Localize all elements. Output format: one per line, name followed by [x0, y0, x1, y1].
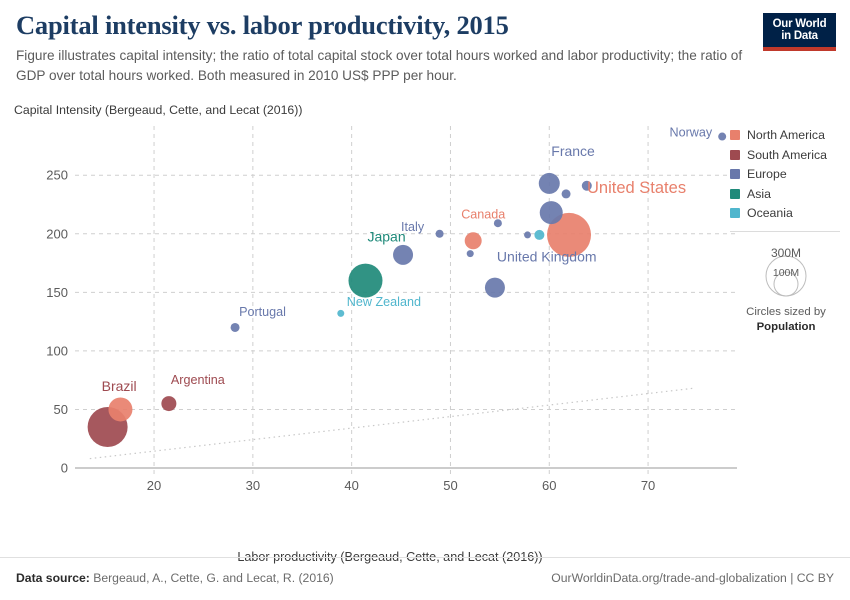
- data-point-italy[interactable]: [393, 245, 413, 265]
- data-point-germany[interactable]: [540, 201, 563, 224]
- point-label-argentina: Argentina: [171, 373, 225, 387]
- logo-line-1: Our World: [773, 18, 827, 30]
- y-tick-label: 0: [61, 461, 68, 476]
- size-label-300m: 300M: [771, 246, 801, 260]
- point-label-france: France: [551, 143, 595, 159]
- chart-footer: Data source: Bergeaud, A., Cette, G. and…: [0, 557, 850, 600]
- x-tick-label: 30: [246, 478, 260, 493]
- page-title: Capital intensity vs. labor productivity…: [16, 10, 756, 40]
- size-legend: 300M 100M Circles sized by Population: [730, 240, 842, 298]
- reference-line: [90, 388, 693, 458]
- x-tick-label: 60: [542, 478, 556, 493]
- legend-item-label: Asia: [747, 187, 771, 201]
- y-tick-label: 50: [54, 402, 68, 417]
- point-label-united-kingdom: United Kingdom: [497, 249, 597, 265]
- legend-item-asia[interactable]: Asia: [730, 187, 842, 201]
- legend-item-label: South America: [747, 148, 827, 162]
- scatter-plot-svg[interactable]: 050100150200250203040506070 BrazilArgent…: [35, 118, 747, 510]
- data-point-netherlands[interactable]: [562, 189, 571, 198]
- data-point-new-zealand[interactable]: [337, 310, 344, 317]
- data-point-norway[interactable]: [718, 133, 726, 141]
- data-source-label: Data source:: [16, 571, 90, 585]
- point-label-portugal: Portugal: [239, 305, 286, 319]
- point-label-norway: Norway: [669, 126, 712, 140]
- legend-swatch-icon: [730, 208, 740, 218]
- plot-area: 050100150200250203040506070 BrazilArgent…: [35, 118, 745, 508]
- footer-link[interactable]: OurWorldinData.org/trade-and-globalizati…: [551, 571, 834, 585]
- data-point-australia[interactable]: [534, 230, 544, 240]
- data-source: Data source: Bergeaud, A., Cette, G. and…: [16, 571, 334, 585]
- chart-legend: North AmericaSouth AmericaEuropeAsiaOcea…: [730, 128, 842, 298]
- owid-logo[interactable]: Our World in Data: [763, 13, 836, 51]
- data-point-france[interactable]: [539, 173, 560, 194]
- legend-items[interactable]: North AmericaSouth AmericaEuropeAsiaOcea…: [730, 128, 842, 220]
- legend-item-label: Oceania: [747, 206, 793, 220]
- y-tick-label: 100: [46, 343, 68, 358]
- data-point-canada[interactable]: [465, 232, 482, 249]
- y-tick-label: 150: [46, 285, 68, 300]
- data-point-japan[interactable]: [348, 264, 382, 298]
- legend-item-europe[interactable]: Europe: [730, 167, 842, 181]
- point-label-new-zealand: New Zealand: [347, 295, 421, 309]
- chart-subtitle: Figure illustrates capital intensity; th…: [16, 46, 751, 85]
- size-caption-line1: Circles sized by: [746, 306, 826, 318]
- point-label-united-states: United States: [587, 179, 686, 197]
- chart-header: Capital intensity vs. labor productivity…: [16, 10, 756, 85]
- data-point-spain[interactable]: [436, 230, 444, 238]
- y-tick-label: 200: [46, 226, 68, 241]
- data-point-mexico[interactable]: [108, 397, 132, 421]
- point-label-brazil: Brazil: [102, 378, 137, 394]
- x-tick-label: 70: [641, 478, 655, 493]
- data-point-united-kingdom[interactable]: [485, 278, 505, 298]
- legend-swatch-icon: [730, 189, 740, 199]
- legend-item-oceania[interactable]: Oceania: [730, 206, 842, 220]
- legend-swatch-icon: [730, 150, 740, 160]
- legend-item-south-america[interactable]: South America: [730, 148, 842, 162]
- legend-item-label: North America: [747, 128, 825, 142]
- size-caption-line2: Population: [757, 321, 816, 333]
- logo-line-2: in Data: [781, 30, 818, 42]
- legend-item-label: Europe: [747, 167, 787, 181]
- data-source-text: Bergeaud, A., Cette, G. and Lecat, R. (2…: [93, 571, 334, 585]
- data-point-portugal[interactable]: [231, 323, 240, 332]
- point-label-italy: Italy: [401, 220, 425, 234]
- reference-line: [90, 388, 693, 458]
- size-legend-caption: Circles sized by Population: [730, 305, 842, 335]
- legend-swatch-icon: [730, 169, 740, 179]
- legend-swatch-icon: [730, 130, 740, 140]
- data-point-argentina[interactable]: [161, 396, 176, 411]
- point-label-japan: Japan: [367, 229, 405, 245]
- plot-wrapper: 050100150200250203040506070 BrazilArgent…: [0, 118, 760, 510]
- legend-item-north-america[interactable]: North America: [730, 128, 842, 142]
- size-label-100m: 100M: [773, 267, 799, 279]
- x-tick-label: 20: [147, 478, 161, 493]
- size-legend-svg: 300M 100M: [730, 240, 842, 298]
- y-tick-label: 250: [46, 168, 68, 183]
- y-axis-title: Capital Intensity (Bergeaud, Cette, and …: [14, 103, 302, 117]
- x-tick-label: 50: [443, 478, 457, 493]
- chart-page: Capital intensity vs. labor productivity…: [0, 0, 850, 600]
- x-tick-label: 40: [344, 478, 358, 493]
- legend-divider: [730, 231, 840, 232]
- data-point-finland[interactable]: [467, 250, 474, 257]
- data-point-austria[interactable]: [524, 231, 531, 238]
- point-label-canada: Canada: [461, 207, 505, 221]
